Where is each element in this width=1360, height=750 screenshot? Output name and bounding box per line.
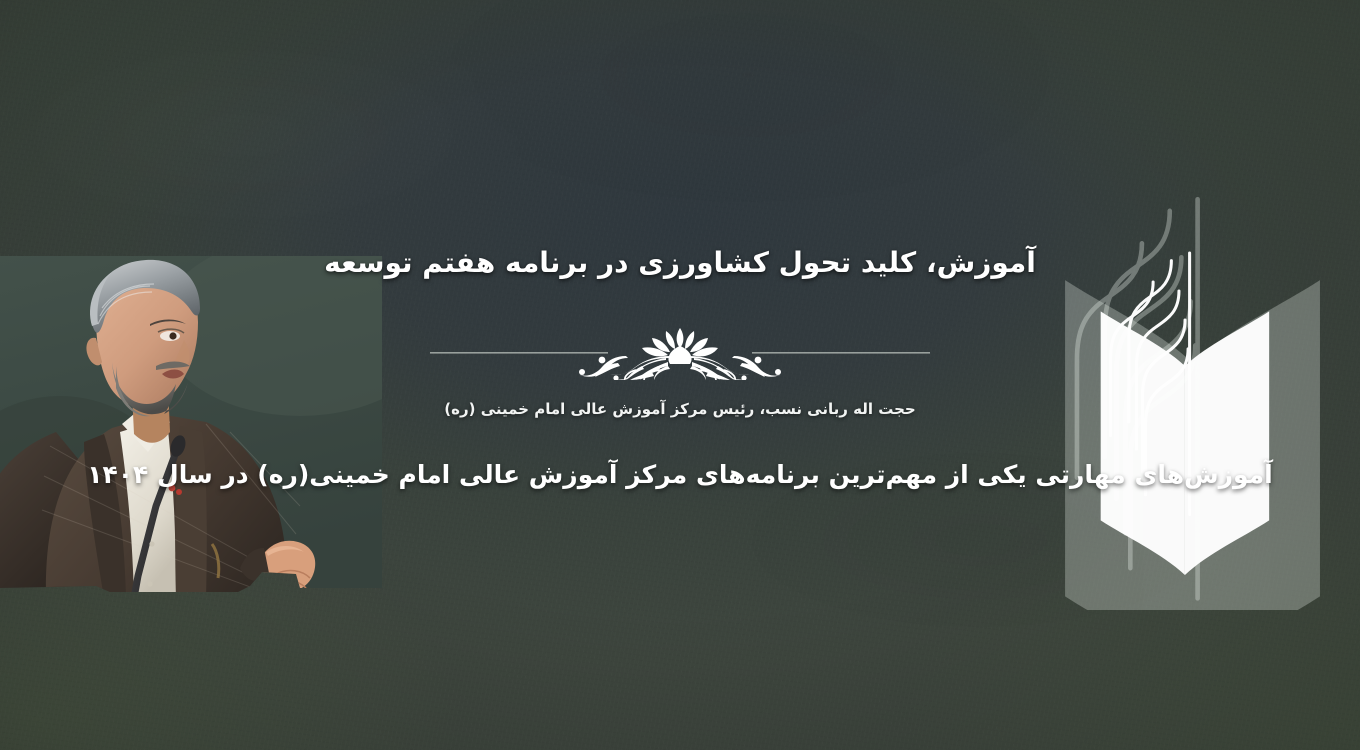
speaker-name-and-role: حجت اله ربانی نسب، رئیس مرکز آموزش عالی … bbox=[0, 400, 1360, 418]
slide-canvas: آموزش، کلید تحول کشاورزی در برنامه هفتم … bbox=[0, 0, 1360, 750]
page-title: آموزش، کلید تحول کشاورزی در برنامه هفتم … bbox=[0, 246, 1360, 279]
lower-third-headline: آموزش‌های مهارتی یکی از مهم‌ترین برنامه‌… bbox=[0, 460, 1360, 489]
ornament-divider bbox=[430, 326, 930, 380]
speaker-portrait bbox=[0, 256, 382, 598]
